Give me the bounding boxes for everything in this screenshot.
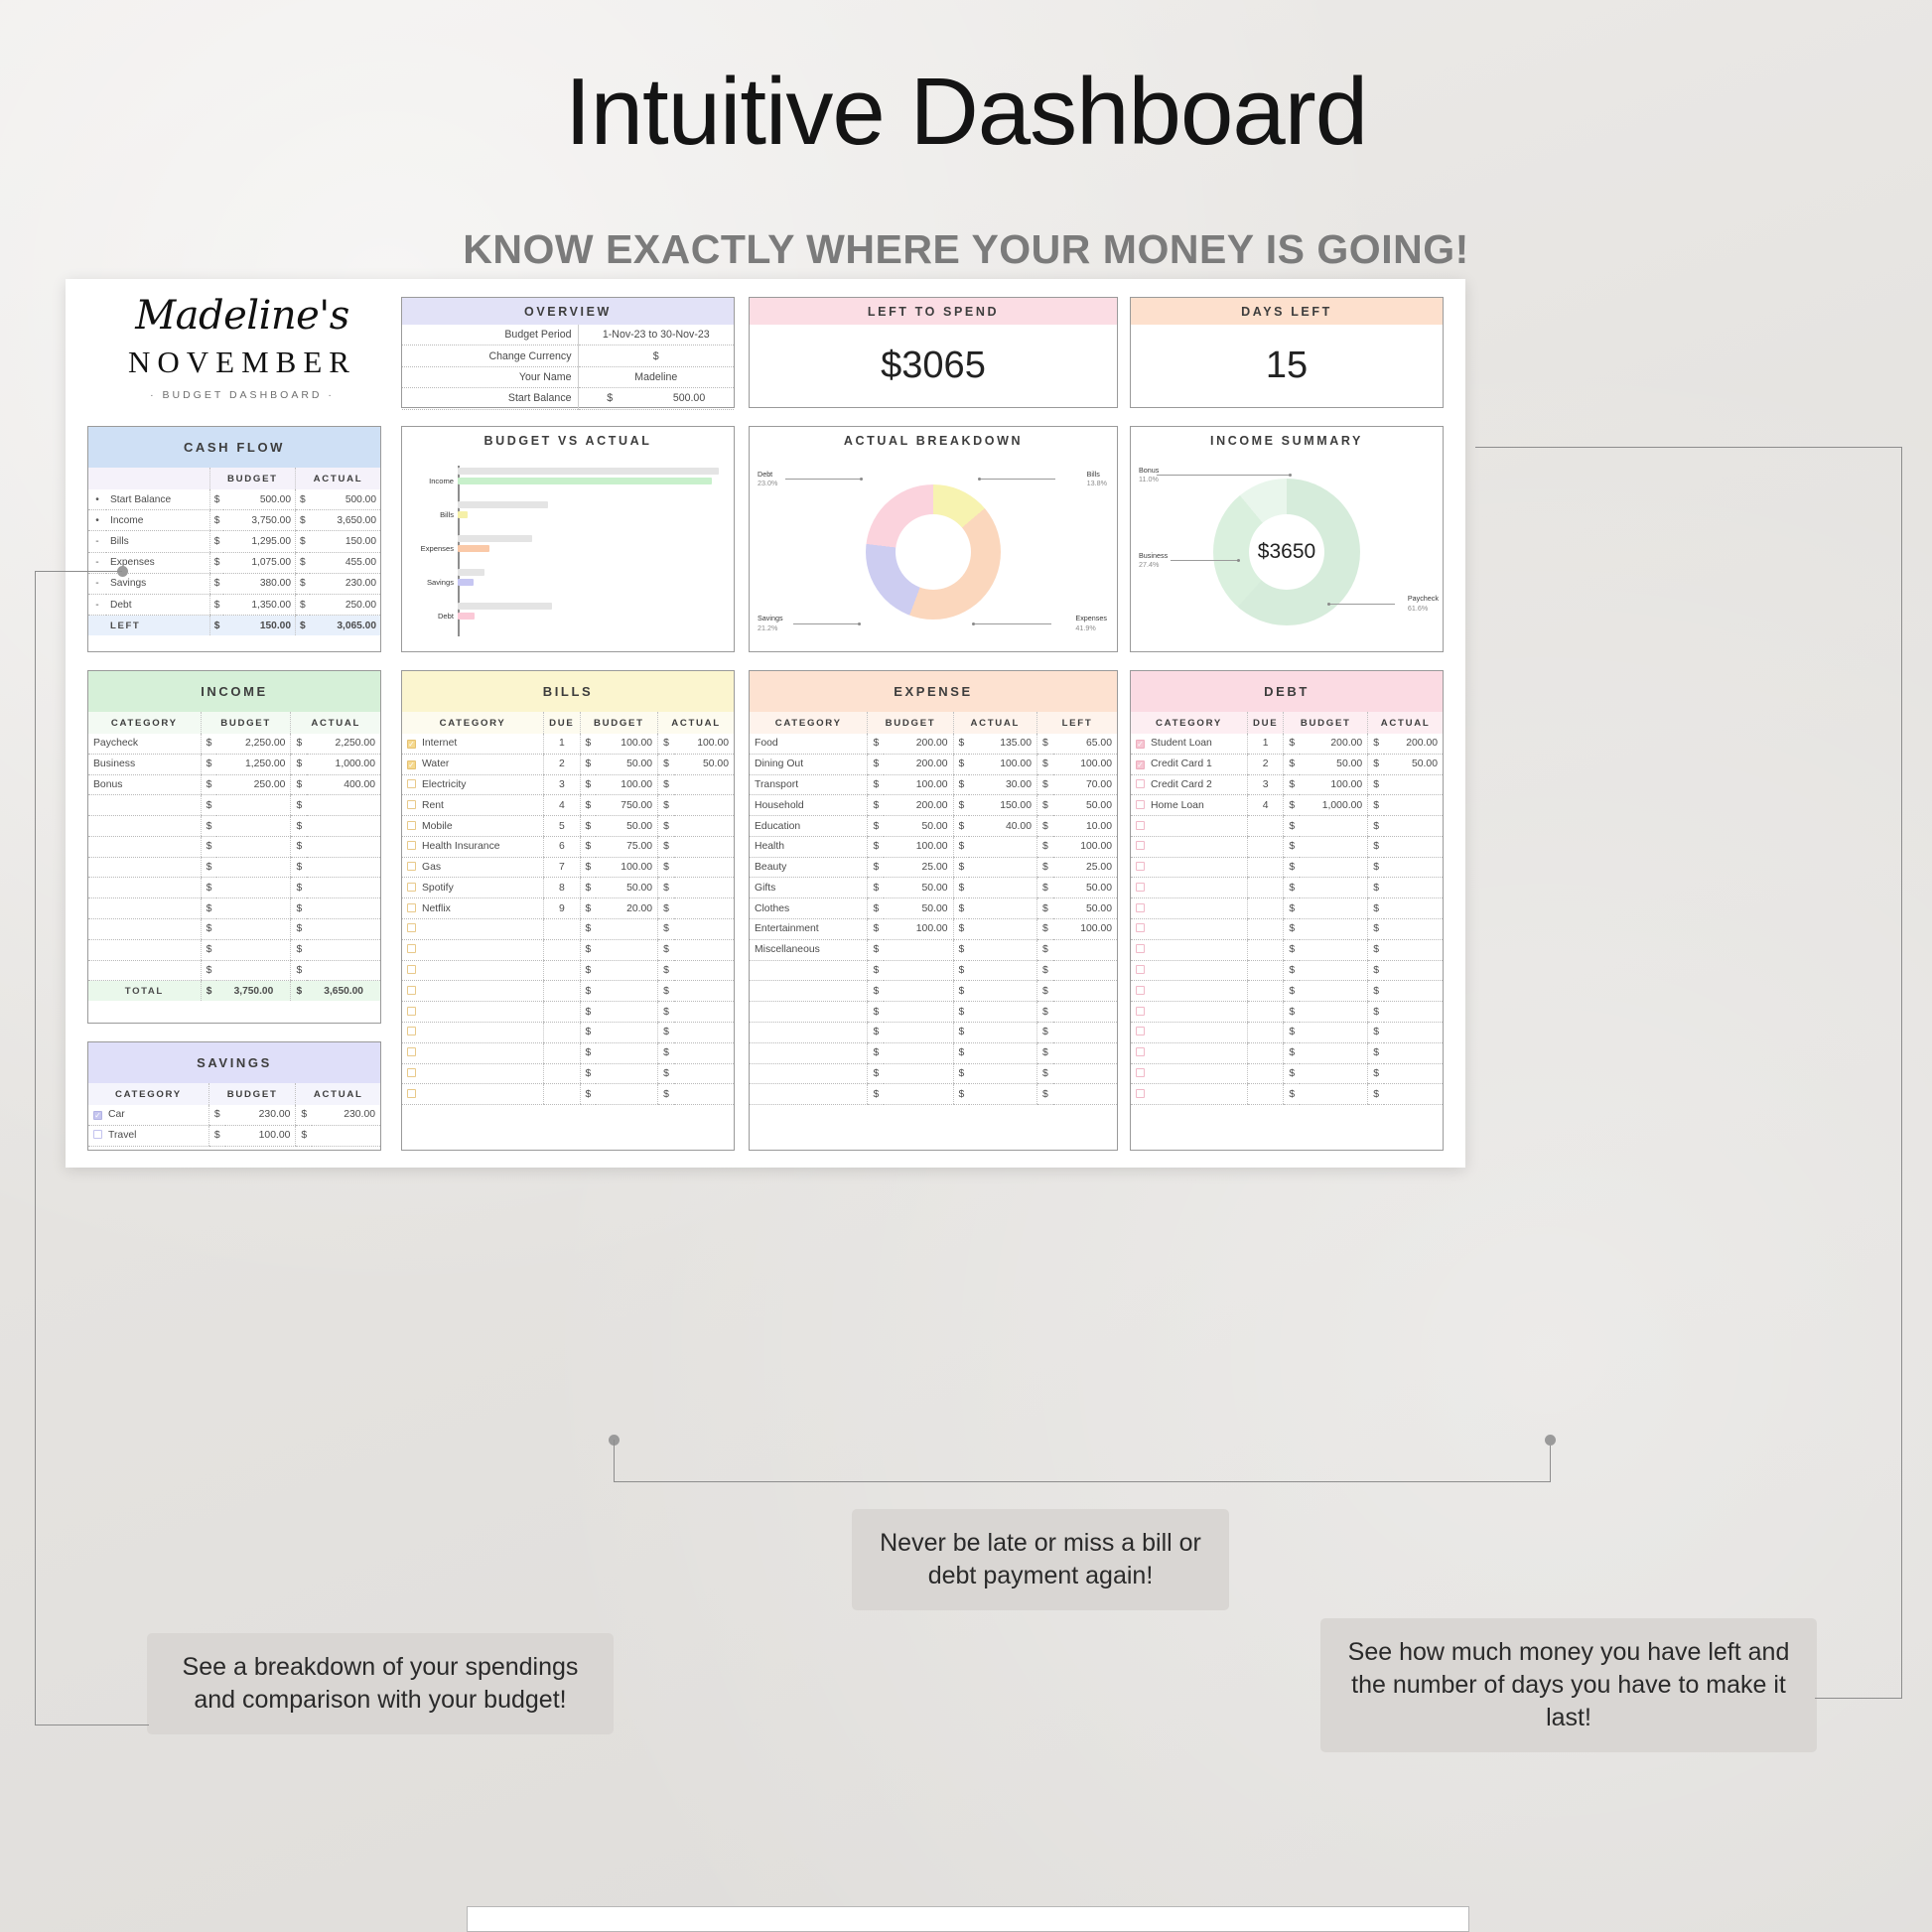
row-actual[interactable] — [969, 1063, 1036, 1084]
table-row[interactable]: $$$ — [750, 1084, 1117, 1105]
row-budget[interactable] — [216, 795, 290, 816]
table-row[interactable]: $$$ — [750, 1022, 1117, 1042]
table-row[interactable]: $$ — [402, 1084, 734, 1105]
table-row[interactable]: $$ — [402, 1022, 734, 1042]
row-actual[interactable] — [674, 1002, 734, 1023]
row-budget[interactable] — [1300, 1042, 1368, 1063]
table-row[interactable]: Health$100.00$$100.00 — [750, 836, 1117, 857]
row-budget[interactable] — [884, 981, 953, 1002]
row-actual[interactable] — [1384, 795, 1443, 816]
row-budget[interactable]: 750.00 — [596, 795, 657, 816]
table-row[interactable]: Home Loan4$1,000.00$ — [1131, 795, 1443, 816]
row-budget[interactable] — [884, 1084, 953, 1105]
row-budget[interactable]: 50.00 — [596, 816, 657, 837]
row-actual[interactable] — [969, 919, 1036, 940]
table-row[interactable]: $$ — [1131, 981, 1443, 1002]
row-actual[interactable]: 3,650.00 — [310, 510, 380, 531]
row-budget[interactable]: 500.00 — [223, 489, 295, 510]
checkbox-icon[interactable] — [1136, 862, 1145, 871]
row-budget[interactable] — [216, 857, 290, 878]
row-category[interactable]: Car — [88, 1105, 208, 1125]
table-row[interactable]: $$ — [88, 836, 380, 857]
table-row[interactable]: $$$ — [750, 960, 1117, 981]
row-category[interactable] — [402, 960, 544, 981]
row-category[interactable]: Dining Out — [750, 754, 868, 774]
table-row[interactable]: Netflix9$20.00$ — [402, 898, 734, 919]
row-due[interactable] — [544, 1022, 580, 1042]
checkbox-icon[interactable] — [407, 986, 416, 995]
row-left[interactable] — [1053, 960, 1117, 981]
row-budget[interactable] — [596, 1042, 657, 1063]
row-actual[interactable] — [1384, 939, 1443, 960]
checkbox-icon[interactable] — [407, 1027, 416, 1035]
checkbox-icon[interactable] — [407, 1089, 416, 1098]
checkbox-icon[interactable] — [93, 1130, 102, 1139]
table-row[interactable]: Water2$50.00$50.00 — [402, 754, 734, 774]
row-actual[interactable] — [674, 816, 734, 837]
row-due[interactable] — [1248, 981, 1284, 1002]
row-budget[interactable] — [1300, 857, 1368, 878]
row-category[interactable]: Health — [750, 836, 868, 857]
checkbox-icon[interactable] — [93, 1111, 102, 1120]
row-category[interactable] — [750, 1063, 868, 1084]
row-due[interactable] — [1248, 960, 1284, 981]
overview-value[interactable]: $ — [578, 345, 734, 366]
row-category[interactable] — [402, 981, 544, 1002]
row-category[interactable] — [1131, 919, 1248, 940]
table-row[interactable]: Miscellaneous$$$ — [750, 939, 1117, 960]
table-row[interactable]: $$ — [1131, 939, 1443, 960]
row-category[interactable]: Entertainment — [750, 919, 868, 940]
table-row[interactable]: Credit Card 12$50.00$50.00 — [1131, 754, 1443, 774]
row-actual[interactable] — [1384, 898, 1443, 919]
table-row[interactable]: • Income $ 3,750.00 $ 3,650.00 — [88, 510, 380, 531]
row-budget[interactable] — [216, 878, 290, 898]
table-row[interactable]: $$ — [88, 878, 380, 898]
checkbox-icon[interactable] — [1136, 944, 1145, 953]
row-due[interactable] — [1248, 919, 1284, 940]
row-budget[interactable] — [596, 981, 657, 1002]
table-row[interactable]: $$ — [402, 1002, 734, 1023]
row-actual[interactable]: 150.00 — [310, 531, 380, 552]
row-left[interactable] — [1053, 939, 1117, 960]
row-left[interactable]: 100.00 — [1053, 919, 1117, 940]
row-category[interactable] — [88, 816, 201, 837]
row-actual[interactable] — [1384, 857, 1443, 878]
row-due[interactable]: 8 — [544, 878, 580, 898]
row-left[interactable]: 50.00 — [1053, 878, 1117, 898]
row-actual[interactable]: 230.00 — [312, 1105, 380, 1125]
checkbox-icon[interactable] — [407, 841, 416, 850]
table-row[interactable]: $$ — [1131, 898, 1443, 919]
checkbox-icon[interactable] — [1136, 903, 1145, 912]
row-budget[interactable]: 50.00 — [1300, 754, 1368, 774]
row-actual[interactable] — [674, 795, 734, 816]
row-actual[interactable] — [674, 836, 734, 857]
row-actual[interactable] — [1384, 774, 1443, 795]
table-row[interactable]: $$ — [88, 898, 380, 919]
table-row[interactable]: Rent4$750.00$ — [402, 795, 734, 816]
row-actual[interactable] — [969, 1042, 1036, 1063]
row-budget[interactable]: 50.00 — [596, 754, 657, 774]
row-left[interactable]: 25.00 — [1053, 857, 1117, 878]
row-budget[interactable] — [1300, 836, 1368, 857]
row-category[interactable] — [750, 960, 868, 981]
table-row[interactable]: $$ — [1131, 1063, 1443, 1084]
row-budget[interactable]: 1,075.00 — [223, 552, 295, 573]
checkbox-icon[interactable] — [407, 862, 416, 871]
row-due[interactable] — [544, 981, 580, 1002]
row-category[interactable]: Credit Card 2 — [1131, 774, 1248, 795]
checkbox-icon[interactable] — [1136, 1068, 1145, 1077]
row-actual[interactable] — [969, 898, 1036, 919]
checkbox-icon[interactable] — [407, 779, 416, 788]
checkbox-icon[interactable] — [407, 740, 416, 749]
row-budget[interactable] — [884, 939, 953, 960]
row-category[interactable] — [1131, 981, 1248, 1002]
row-budget[interactable]: 100.00 — [884, 774, 953, 795]
row-actual[interactable]: 100.00 — [969, 754, 1036, 774]
table-row[interactable]: Food$200.00$135.00$65.00 — [750, 734, 1117, 754]
row-due[interactable]: 9 — [544, 898, 580, 919]
row-actual[interactable] — [674, 1084, 734, 1105]
row-due[interactable]: 4 — [1248, 795, 1284, 816]
row-actual[interactable]: 500.00 — [310, 489, 380, 510]
row-category[interactable]: Food — [750, 734, 868, 754]
row-budget[interactable]: 380.00 — [223, 573, 295, 594]
row-category[interactable]: Rent — [402, 795, 544, 816]
row-category[interactable] — [88, 836, 201, 857]
row-category[interactable] — [1131, 1063, 1248, 1084]
row-due[interactable] — [1248, 1042, 1284, 1063]
row-actual[interactable]: 30.00 — [969, 774, 1036, 795]
row-budget[interactable] — [1300, 1063, 1368, 1084]
row-category[interactable] — [1131, 816, 1248, 837]
table-row[interactable]: Internet1$100.00$100.00 — [402, 734, 734, 754]
row-budget[interactable]: 75.00 — [596, 836, 657, 857]
row-due[interactable] — [1248, 816, 1284, 837]
table-row[interactable]: - Expenses $ 1,075.00 $ 455.00 — [88, 552, 380, 573]
row-actual[interactable] — [307, 836, 380, 857]
row-category[interactable]: Electricity — [402, 774, 544, 795]
row-due[interactable] — [1248, 836, 1284, 857]
row-due[interactable] — [1248, 1002, 1284, 1023]
row-actual[interactable]: 150.00 — [969, 795, 1036, 816]
row-due[interactable] — [1248, 857, 1284, 878]
table-row[interactable]: $$ — [402, 939, 734, 960]
row-budget[interactable] — [216, 960, 290, 981]
row-category[interactable] — [88, 857, 201, 878]
table-row[interactable]: Entertainment$100.00$$100.00 — [750, 919, 1117, 940]
row-actual[interactable]: 2,250.00 — [307, 734, 380, 754]
row-due[interactable] — [544, 1084, 580, 1105]
row-actual[interactable] — [674, 981, 734, 1002]
table-row[interactable]: Paycheck$2,250.00$2,250.00 — [88, 734, 380, 754]
table-row[interactable]: Travel$100.00$ — [88, 1125, 380, 1146]
row-due[interactable]: 7 — [544, 857, 580, 878]
table-row[interactable]: Credit Card 23$100.00$ — [1131, 774, 1443, 795]
row-budget[interactable]: 20.00 — [596, 898, 657, 919]
row-actual[interactable] — [307, 939, 380, 960]
row-budget[interactable]: 100.00 — [225, 1125, 296, 1146]
table-row[interactable]: $$$ — [750, 1063, 1117, 1084]
row-due[interactable] — [1248, 1084, 1284, 1105]
row-due[interactable]: 4 — [544, 795, 580, 816]
row-category[interactable] — [750, 1002, 868, 1023]
table-row[interactable]: Dining Out$200.00$100.00$100.00 — [750, 754, 1117, 774]
checkbox-icon[interactable] — [1136, 923, 1145, 932]
table-row[interactable]: $$ — [88, 795, 380, 816]
overview-value[interactable]: $ 500.00 — [578, 388, 734, 409]
row-budget[interactable] — [216, 919, 290, 940]
row-actual[interactable] — [674, 919, 734, 940]
row-actual[interactable] — [674, 878, 734, 898]
checkbox-icon[interactable] — [407, 760, 416, 769]
row-budget[interactable]: 50.00 — [884, 816, 953, 837]
row-category[interactable] — [402, 1084, 544, 1105]
row-budget[interactable] — [1300, 960, 1368, 981]
row-budget[interactable] — [1300, 1022, 1368, 1042]
row-actual[interactable] — [312, 1125, 380, 1146]
checkbox-icon[interactable] — [1136, 779, 1145, 788]
row-due[interactable] — [544, 919, 580, 940]
checkbox-icon[interactable] — [407, 1007, 416, 1016]
row-due[interactable] — [544, 1042, 580, 1063]
row-budget[interactable] — [216, 816, 290, 837]
row-actual[interactable]: 50.00 — [674, 754, 734, 774]
row-budget[interactable] — [884, 960, 953, 981]
row-budget[interactable]: 100.00 — [596, 774, 657, 795]
row-budget[interactable] — [216, 939, 290, 960]
checkbox-icon[interactable] — [1136, 740, 1145, 749]
table-row[interactable]: Clothes$50.00$$50.00 — [750, 898, 1117, 919]
row-category[interactable] — [1131, 1084, 1248, 1105]
row-category[interactable]: Internet — [402, 734, 544, 754]
row-category[interactable] — [402, 919, 544, 940]
row-due[interactable] — [1248, 898, 1284, 919]
row-category[interactable]: Health Insurance — [402, 836, 544, 857]
table-row[interactable]: Gas7$100.00$ — [402, 857, 734, 878]
row-budget[interactable]: 230.00 — [225, 1105, 296, 1125]
checkbox-icon[interactable] — [407, 1047, 416, 1056]
row-category[interactable] — [1131, 857, 1248, 878]
row-due[interactable] — [1248, 878, 1284, 898]
row-left[interactable]: 100.00 — [1053, 754, 1117, 774]
row-actual[interactable] — [307, 795, 380, 816]
row-category[interactable] — [402, 939, 544, 960]
table-row[interactable]: - Savings $ 380.00 $ 230.00 — [88, 573, 380, 594]
table-row[interactable]: $$ — [88, 857, 380, 878]
row-category[interactable] — [1131, 939, 1248, 960]
checkbox-icon[interactable] — [1136, 1047, 1145, 1056]
row-category[interactable]: Business — [88, 754, 201, 774]
row-category[interactable] — [1131, 1022, 1248, 1042]
table-row[interactable]: $$ — [1131, 816, 1443, 837]
row-category[interactable]: Miscellaneous — [750, 939, 868, 960]
overview-value[interactable]: Madeline — [578, 366, 734, 387]
row-category[interactable]: Mobile — [402, 816, 544, 837]
row-left[interactable] — [1053, 1084, 1117, 1105]
table-row[interactable]: $$ — [1131, 857, 1443, 878]
row-category[interactable]: Water — [402, 754, 544, 774]
row-due[interactable]: 6 — [544, 836, 580, 857]
row-category[interactable]: Transport — [750, 774, 868, 795]
row-budget[interactable]: 1,295.00 — [223, 531, 295, 552]
row-budget[interactable]: 1,350.00 — [223, 594, 295, 615]
row-actual[interactable] — [969, 1022, 1036, 1042]
row-budget[interactable] — [1300, 919, 1368, 940]
table-row[interactable]: Bonus$250.00$400.00 — [88, 774, 380, 795]
row-actual[interactable] — [307, 960, 380, 981]
row-category[interactable] — [402, 1022, 544, 1042]
table-row[interactable]: $$ — [1131, 1084, 1443, 1105]
row-actual[interactable]: 100.00 — [674, 734, 734, 754]
row-due[interactable] — [544, 939, 580, 960]
row-due[interactable]: 2 — [1248, 754, 1284, 774]
row-actual[interactable] — [1384, 919, 1443, 940]
row-budget[interactable] — [1300, 1084, 1368, 1105]
row-budget[interactable]: 3,750.00 — [223, 510, 295, 531]
checkbox-icon[interactable] — [1136, 883, 1145, 892]
row-left[interactable]: 65.00 — [1053, 734, 1117, 754]
row-category[interactable]: Travel — [88, 1125, 208, 1146]
row-due[interactable] — [544, 1002, 580, 1023]
row-actual[interactable]: 230.00 — [310, 573, 380, 594]
row-actual[interactable]: 200.00 — [1384, 734, 1443, 754]
row-category[interactable]: Household — [750, 795, 868, 816]
row-category[interactable] — [402, 1042, 544, 1063]
checkbox-icon[interactable] — [1136, 1027, 1145, 1035]
table-row[interactable]: $$ — [402, 960, 734, 981]
row-category[interactable] — [88, 939, 201, 960]
row-budget[interactable] — [1300, 816, 1368, 837]
row-actual[interactable] — [969, 960, 1036, 981]
row-budget[interactable] — [884, 1002, 953, 1023]
table-row[interactable]: $$ — [402, 1042, 734, 1063]
table-row[interactable]: - Bills $ 1,295.00 $ 150.00 — [88, 531, 380, 552]
row-due[interactable]: 1 — [544, 734, 580, 754]
checkbox-icon[interactable] — [1136, 841, 1145, 850]
row-actual[interactable] — [1384, 981, 1443, 1002]
row-budget[interactable]: 200.00 — [1300, 734, 1368, 754]
row-due[interactable]: 3 — [544, 774, 580, 795]
row-actual[interactable] — [969, 1084, 1036, 1105]
row-category[interactable] — [750, 1022, 868, 1042]
row-actual[interactable] — [674, 939, 734, 960]
table-row[interactable]: $$ — [1131, 1042, 1443, 1063]
row-left[interactable]: 50.00 — [1053, 795, 1117, 816]
row-left[interactable]: 50.00 — [1053, 898, 1117, 919]
row-due[interactable]: 5 — [544, 816, 580, 837]
row-category[interactable]: Paycheck — [88, 734, 201, 754]
table-row[interactable]: Business$1,250.00$1,000.00 — [88, 754, 380, 774]
row-budget[interactable] — [596, 1002, 657, 1023]
row-budget[interactable]: 100.00 — [596, 857, 657, 878]
table-row[interactable]: Start Balance $ 500.00 — [402, 388, 734, 409]
row-budget[interactable] — [596, 919, 657, 940]
row-category[interactable] — [1131, 898, 1248, 919]
row-category[interactable] — [750, 1042, 868, 1063]
row-budget[interactable]: 50.00 — [884, 898, 953, 919]
row-actual[interactable] — [674, 898, 734, 919]
row-due[interactable] — [544, 960, 580, 981]
row-category[interactable] — [1131, 836, 1248, 857]
checkbox-icon[interactable] — [407, 800, 416, 809]
table-row[interactable]: Student Loan1$200.00$200.00 — [1131, 734, 1443, 754]
row-budget[interactable] — [216, 836, 290, 857]
checkbox-icon[interactable] — [1136, 986, 1145, 995]
table-row[interactable]: Health Insurance6$75.00$ — [402, 836, 734, 857]
table-row[interactable]: Household$200.00$150.00$50.00 — [750, 795, 1117, 816]
row-budget[interactable]: 25.00 — [884, 857, 953, 878]
row-actual[interactable] — [969, 939, 1036, 960]
row-actual[interactable]: 50.00 — [1384, 754, 1443, 774]
checkbox-icon[interactable] — [407, 923, 416, 932]
checkbox-icon[interactable] — [407, 821, 416, 830]
row-budget[interactable] — [216, 898, 290, 919]
row-budget[interactable] — [596, 939, 657, 960]
row-actual[interactable] — [307, 898, 380, 919]
row-actual[interactable] — [307, 857, 380, 878]
row-actual[interactable] — [674, 960, 734, 981]
row-category[interactable] — [750, 981, 868, 1002]
row-actual[interactable] — [1384, 816, 1443, 837]
row-left[interactable] — [1053, 981, 1117, 1002]
row-actual[interactable] — [1384, 1084, 1443, 1105]
table-row[interactable]: $$ — [402, 1063, 734, 1084]
row-budget[interactable] — [596, 1063, 657, 1084]
row-actual[interactable] — [674, 774, 734, 795]
table-row[interactable]: $$$ — [750, 981, 1117, 1002]
row-budget[interactable]: 100.00 — [1300, 774, 1368, 795]
row-due[interactable] — [1248, 1022, 1284, 1042]
table-row[interactable]: - Debt $ 1,350.00 $ 250.00 — [88, 594, 380, 615]
row-actual[interactable]: 1,000.00 — [307, 754, 380, 774]
row-left[interactable]: 10.00 — [1053, 816, 1117, 837]
row-actual[interactable] — [674, 1022, 734, 1042]
row-category[interactable]: Education — [750, 816, 868, 837]
row-budget[interactable]: 200.00 — [884, 754, 953, 774]
row-budget[interactable] — [596, 1084, 657, 1105]
table-row[interactable]: $$ — [88, 939, 380, 960]
checkbox-icon[interactable] — [407, 965, 416, 974]
row-budget[interactable]: 100.00 — [884, 836, 953, 857]
checkbox-icon[interactable] — [407, 903, 416, 912]
row-category[interactable] — [88, 919, 201, 940]
checkbox-icon[interactable] — [1136, 800, 1145, 809]
row-category[interactable]: Bonus — [88, 774, 201, 795]
row-category[interactable] — [88, 960, 201, 981]
row-due[interactable]: 3 — [1248, 774, 1284, 795]
checkbox-icon[interactable] — [407, 883, 416, 892]
row-budget[interactable]: 2,250.00 — [216, 734, 290, 754]
row-due[interactable] — [544, 1063, 580, 1084]
table-row[interactable]: • Start Balance $ 500.00 $ 500.00 — [88, 489, 380, 510]
row-budget[interactable]: 200.00 — [884, 795, 953, 816]
row-budget[interactable] — [596, 1022, 657, 1042]
row-budget[interactable] — [1300, 939, 1368, 960]
row-actual[interactable] — [1384, 836, 1443, 857]
row-actual[interactable]: 40.00 — [969, 816, 1036, 837]
row-actual[interactable] — [674, 1063, 734, 1084]
row-due[interactable] — [1248, 1063, 1284, 1084]
row-actual[interactable] — [307, 878, 380, 898]
row-budget[interactable] — [1300, 878, 1368, 898]
row-budget[interactable] — [884, 1063, 953, 1084]
checkbox-icon[interactable] — [407, 944, 416, 953]
row-actual[interactable] — [307, 919, 380, 940]
table-row[interactable]: $$ — [88, 960, 380, 981]
